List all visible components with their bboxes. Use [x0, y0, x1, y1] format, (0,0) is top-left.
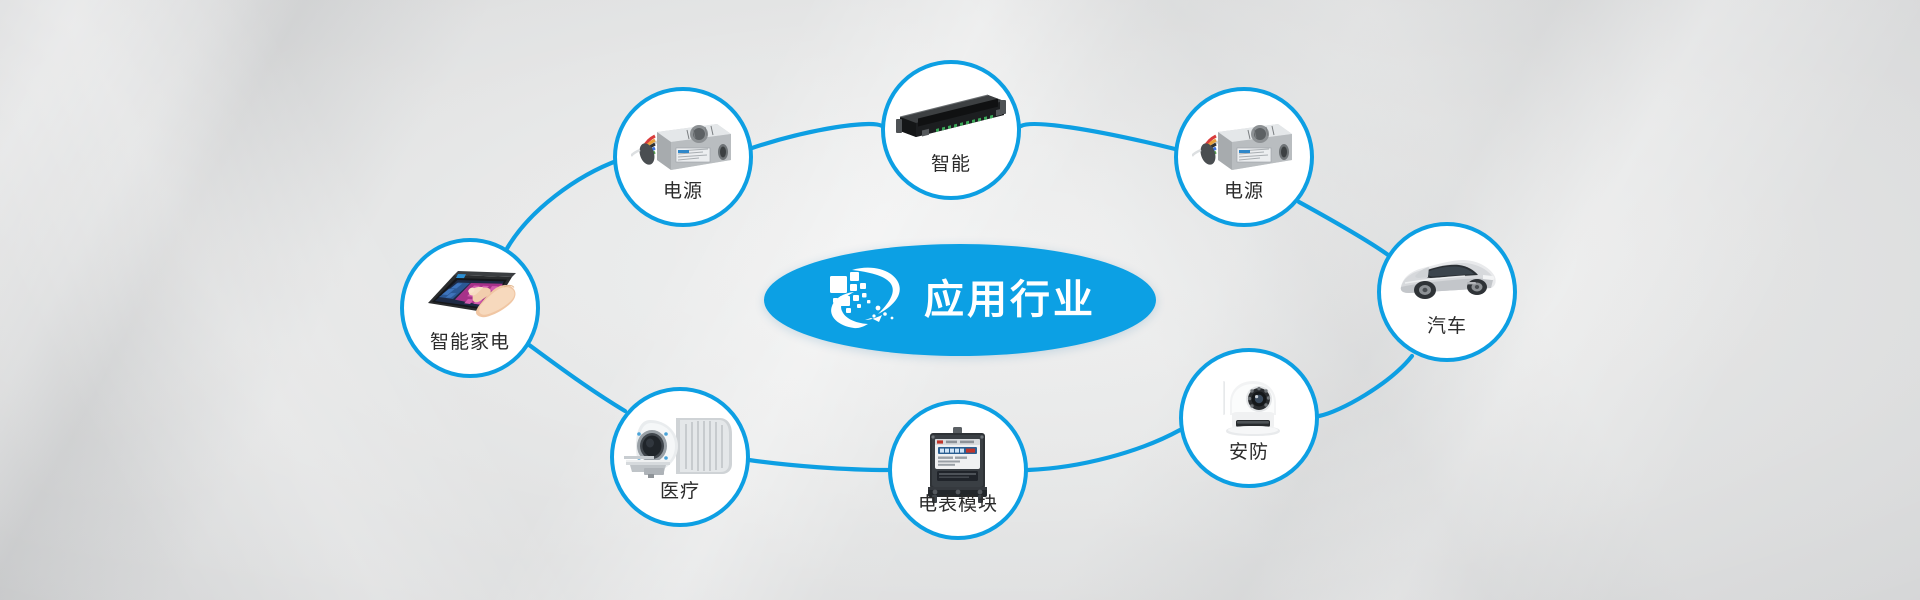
node-label: 智能家电 [404, 333, 536, 352]
rack-server-icon [892, 85, 1010, 141]
tablet-touch-icon [418, 263, 522, 327]
node-label: 医疗 [614, 482, 746, 501]
orbit-swoosh-logo [824, 266, 910, 334]
link-smart-home-to-power-left [505, 160, 619, 252]
atx-power-supply-icon [631, 112, 735, 178]
link-automotive-to-security [1319, 356, 1412, 416]
node-label: 电源 [1178, 182, 1310, 201]
badge-title: 应用行业 [924, 280, 1096, 320]
node-power-right[interactable]: 电源 [1174, 87, 1314, 227]
node-smart[interactable]: 智能 [881, 60, 1021, 200]
link-power-right-to-automotive [1299, 202, 1397, 262]
link-smart-to-power-right [1021, 124, 1175, 149]
node-power-left[interactable]: 电源 [613, 87, 753, 227]
link-meter-to-medical [749, 460, 888, 470]
link-security-to-meter [1028, 430, 1180, 470]
node-smart-home[interactable]: 智能家电 [400, 238, 540, 378]
mri-scanner-icon [624, 412, 736, 478]
node-label: 电表模块 [892, 495, 1024, 514]
node-security[interactable]: 安防 [1179, 348, 1319, 488]
node-label: 电源 [617, 182, 749, 201]
node-automotive[interactable]: 汽车 [1377, 222, 1517, 362]
ip-camera-icon [1208, 373, 1290, 445]
center-badge[interactable]: 应用行业 [764, 244, 1156, 356]
node-label: 安防 [1183, 443, 1315, 462]
node-medical[interactable]: 医疗 [610, 387, 750, 527]
electric-meter-icon [919, 425, 997, 505]
node-label: 汽车 [1381, 317, 1513, 336]
link-power-left-to-smart [752, 124, 882, 148]
node-label: 智能 [885, 155, 1017, 174]
application-industries-infographic: 电源 [0, 0, 1920, 600]
atx-power-supply-icon [1192, 112, 1296, 178]
sports-car-icon [1395, 247, 1499, 303]
node-meter[interactable]: 电表模块 [888, 400, 1028, 540]
